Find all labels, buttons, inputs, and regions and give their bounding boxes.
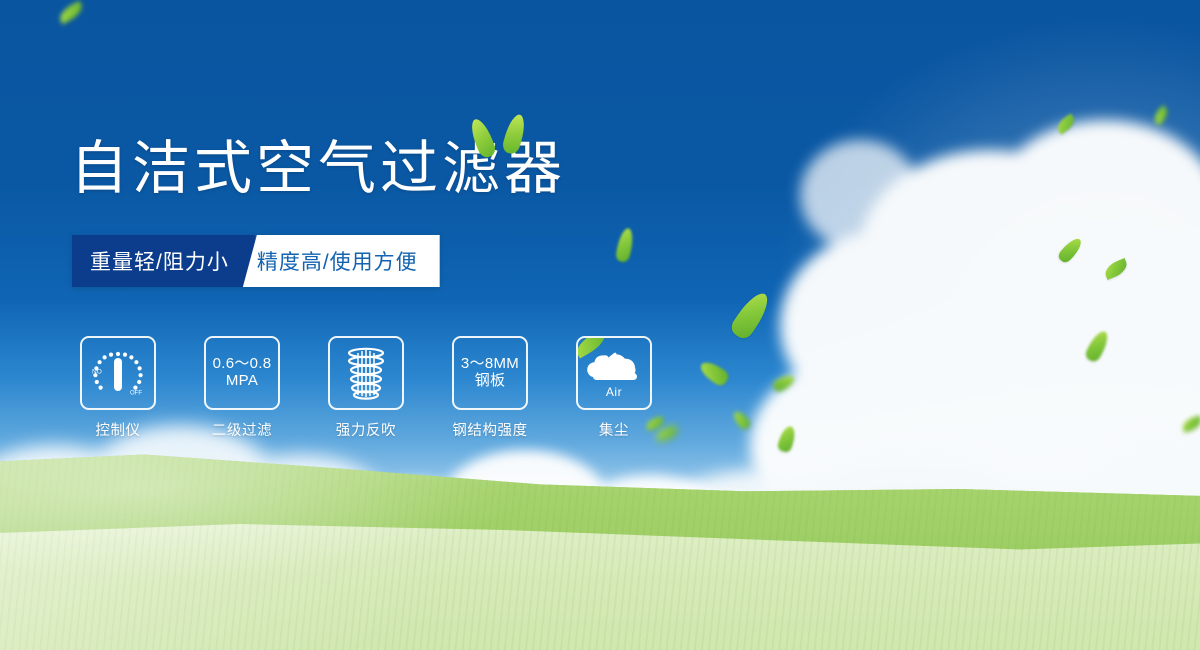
pressure-line2: MPA [226,373,258,390]
svg-text:OFF: OFF [130,391,142,397]
feature-label: 强力反吹 [336,419,396,440]
feature-item-steel[interactable]: 3～8MM 钢板 钢结构强度 [452,336,528,440]
feature-label: 二级过滤 [212,419,272,440]
steel-plate-text-icon: 3～8MM 钢板 [452,336,528,410]
pressure-text-icon: 0.6～0.8 MPA [204,336,280,410]
svg-text:NO: NO [92,369,102,376]
feature-item-dust-collection[interactable]: Air 集尘 [576,336,652,440]
promo-banner: 自洁式空气过滤器 重量轻/阻力小 精度高/使用方便 [0,0,1200,650]
feature-label: 控制仪 [95,419,140,440]
feature-item-control-gauge[interactable]: NO OFF 控制仪 [80,336,156,440]
air-cloud-icon: Air [576,336,652,410]
feature-label: 集尘 [599,419,629,440]
sprout-leaves-icon [470,112,540,158]
feature-icon-row: NO OFF 控制仪 0.6～0.8 MPA 二级过滤 [80,336,652,440]
steel-line1: 3～8MM [461,356,519,373]
badge-left-text: 重量轻/阻力小 [72,235,255,287]
feature-item-pressure[interactable]: 0.6～0.8 MPA 二级过滤 [204,336,280,440]
steel-line2: 钢板 [475,373,506,390]
pleated-filter-icon [328,336,404,410]
feature-label: 钢结构强度 [452,419,528,440]
pressure-line1: 0.6～0.8 [213,356,272,373]
banner-content: 自洁式空气过滤器 重量轻/阻力小 精度高/使用方便 [0,0,1200,650]
feature-item-backblow[interactable]: 强力反吹 [328,336,404,440]
subtitle-badge: 重量轻/阻力小 精度高/使用方便 [72,235,440,287]
control-gauge-icon: NO OFF [80,336,156,410]
badge-right-text: 精度高/使用方便 [243,235,440,287]
